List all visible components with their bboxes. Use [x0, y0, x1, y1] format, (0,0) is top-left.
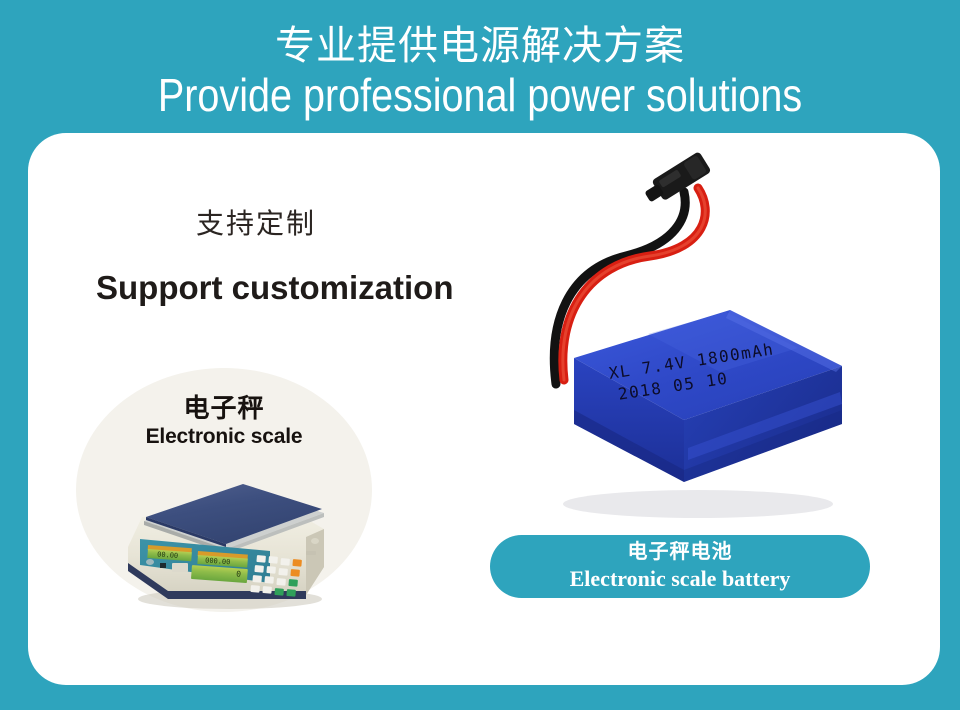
- svg-text:00.00: 00.00: [157, 551, 179, 561]
- header-title-cn: 专业提供电源解决方案: [0, 22, 960, 70]
- caption-pill-label-en: Electronic scale battery: [490, 565, 870, 593]
- battery-pack-image: XL 7.4V 1800mAh 2018 05 10: [498, 152, 868, 527]
- header-band: 专业提供电源解决方案 Provide professional power so…: [0, 0, 960, 133]
- support-text-en: Support customization: [96, 268, 454, 308]
- scale-badge-label-en: Electronic scale: [76, 424, 372, 450]
- scale-badge-label-cn: 电子秤: [76, 393, 372, 423]
- svg-text:0: 0: [236, 570, 242, 579]
- product-poster: 专业提供电源解决方案 Provide professional power so…: [0, 0, 960, 710]
- support-text-cn: 支持定制: [196, 207, 316, 241]
- header-title-en: Provide professional power solutions: [67, 68, 893, 122]
- caption-pill-label-cn: 电子秤电池: [490, 539, 870, 565]
- electronic-scale-image: 00.00 000.00 0: [110, 455, 345, 610]
